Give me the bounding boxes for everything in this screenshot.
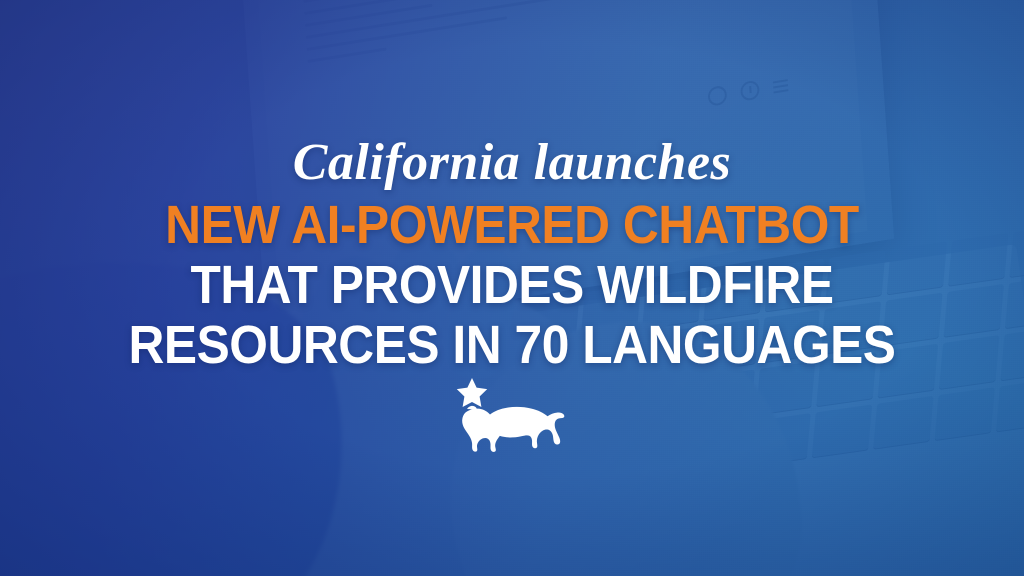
headline-line-3: THAT PROVIDES WILDFIRE [41, 258, 983, 312]
headline-line-2: NEW AI-POWERED CHATBOT [41, 198, 983, 252]
promo-graphic: California launches NEW AI-POWERED CHATB… [0, 0, 1024, 576]
five-pointed-star-icon [457, 378, 487, 407]
headline-block: California launches NEW AI-POWERED CHATB… [0, 137, 1024, 372]
grizzly-bear-icon [462, 407, 564, 452]
headline-line-1: California launches [0, 137, 1024, 189]
headline-line-4: RESOURCES IN 70 LANGUAGES [41, 318, 983, 372]
california-bear-flag-emblem [450, 378, 582, 454]
